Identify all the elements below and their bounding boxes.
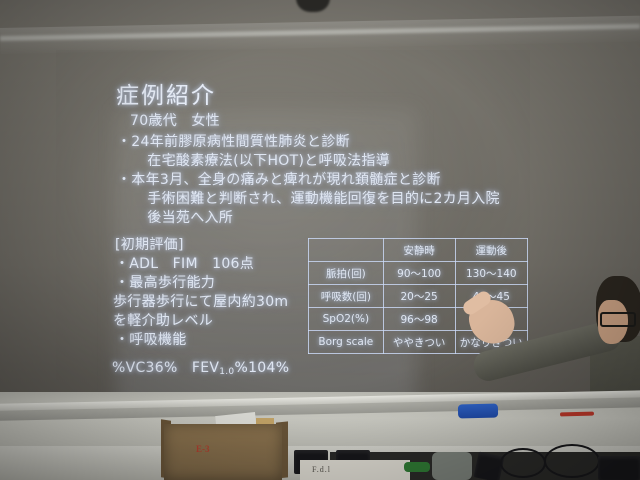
slide-line-gait-header: ・最高歩行能力: [115, 272, 215, 292]
pulse-exercise: 130〜140: [455, 262, 527, 285]
slide-line-surgery: 手術困難と判断され、運動機能回復を目的に2カ月入院: [133, 188, 500, 208]
row-label-pulse: 脈拍(回): [309, 262, 384, 285]
slide-line-spirometry: %VC36% FEV1.0%104%: [112, 357, 289, 377]
pulse-rest: 90〜100: [383, 262, 455, 285]
cardboard-box: [164, 424, 282, 480]
coiled-cable-1: [500, 448, 546, 478]
spirometry-subscript: 1.0: [219, 367, 234, 377]
slide-line-resp-header: ・呼吸機能: [115, 329, 187, 349]
slide-line-walker: 歩行器歩行にて屋内約30m: [113, 291, 288, 311]
spirometry-suffix: %104%: [234, 360, 289, 376]
table-row: 脈拍(回) 90〜100 130〜140: [309, 262, 528, 285]
row-label-resp-rate: 呼吸数(回): [309, 285, 384, 308]
coiled-cable-2: [544, 444, 600, 478]
spirometry-prefix: %VC36% FEV: [112, 360, 219, 376]
slide-line-adl-fim: ・ADL FIM 106点: [115, 253, 254, 273]
borg-rest: ややきつい: [383, 331, 455, 354]
table-header-row: 安静時 運動後: [309, 239, 528, 262]
slide-line-march: ・本年3月、全身の痛みと痺れが現れ頚髄症と診断: [117, 169, 441, 189]
slide-line-diagnosis: ・24年前膠原病性間質性肺炎と診断: [117, 131, 350, 151]
spo2-rest: 96〜98: [383, 308, 455, 331]
table-header-rest: 安静時: [383, 239, 455, 262]
slide-line-admission: 後当苑へ入所: [133, 207, 233, 227]
slide-title: 症例紹介: [116, 76, 216, 110]
plastic-bottle: [432, 452, 472, 480]
photo-scene: 症例紹介 70歳代 女性 ・24年前膠原病性間質性肺炎と診断 在宅酸素療法(以下…: [0, 0, 640, 480]
whiteboard-eraser: [458, 404, 498, 419]
glasses-icon: [600, 312, 636, 327]
black-equipment-far-right: [598, 456, 640, 480]
bottle-cap: [404, 462, 430, 472]
box-marking-label: E-3: [196, 444, 210, 454]
row-label-borg: Borg scale: [309, 331, 384, 354]
slide-line-assist-level: を軽介助レベル: [113, 310, 213, 330]
slide-line-hot-therapy: 在宅酸素療法(以下HOT)と呼吸法指導: [133, 150, 390, 170]
slide-line-patient: 70歳代 女性: [130, 110, 220, 130]
resp-rate-rest: 20〜25: [383, 285, 455, 308]
desk-paper-text: F.d.l: [312, 465, 331, 474]
table-corner-cell: [309, 239, 384, 262]
row-label-spo2: SpO2(%): [309, 308, 384, 331]
table-header-exercise: 運動後: [455, 239, 527, 262]
slide-line-eval-header: [初期評価]: [115, 234, 184, 254]
